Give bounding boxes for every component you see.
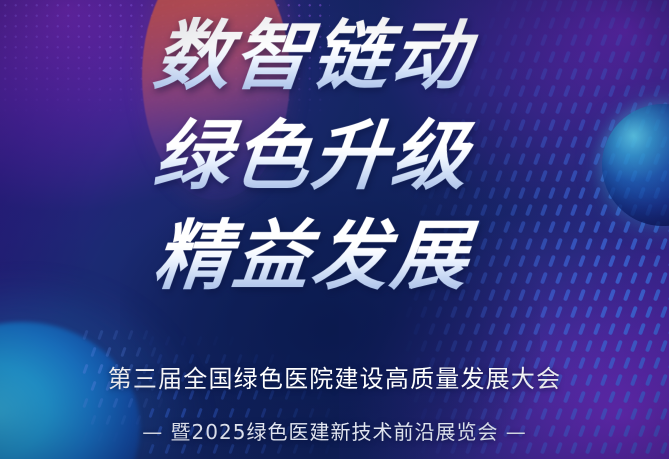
conference-poster: 数智链动 绿色升级 精益发展 第三届全国绿色医院建设高质量发展大会 — 暨202…: [0, 0, 669, 459]
vignette-overlay: [0, 0, 669, 459]
